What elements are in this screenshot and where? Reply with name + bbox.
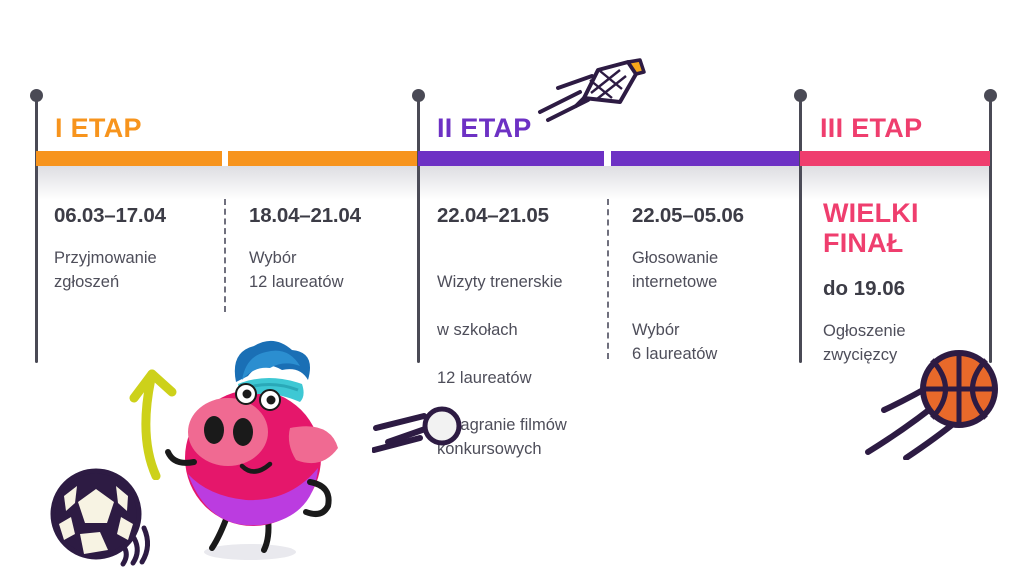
bar-shadow-3 [800,166,990,200]
period-description-line: w szkołach [437,319,612,343]
final-description: Ogłoszenie zwycięzcy [823,320,983,368]
plus-icon: + [437,416,447,434]
stage-bar-2-segment-2 [611,151,799,166]
period-description-plus-line: + nagranie filmów konkursowych [437,414,612,462]
bar-shadow-2 [418,166,799,200]
shuttlecock-icon [536,58,646,123]
plus-line-text: nagranie filmów konkursowych [437,416,567,458]
stage-bar-1-segment-1 [36,151,222,166]
soccer-ball-icon [48,462,160,574]
timeline-rule-4 [989,95,992,363]
stage-label-1: I ETAP [55,113,142,144]
stage-label-2: II ETAP [437,113,532,144]
stage-bar-1-segment-2 [228,151,417,166]
period-description-line: Wizyty trenerskie [437,271,612,295]
period-date-2-2: 22.05–05.06 [632,204,744,228]
period-date-1-2: 18.04–21.04 [249,204,361,228]
period-description-2-2: Głosowanie internetowe Wybór 6 laureatów [632,247,792,367]
timeline-rule-2 [417,95,420,363]
period-date-2-1: 22.04–21.05 [437,204,549,228]
stage-bar-3 [800,151,990,166]
period-description-2-1: Wizyty trenerskie w szkołach 12 laureató… [437,247,612,486]
final-title: WIELKI FINAŁ [823,198,919,258]
final-date: do 19.06 [823,277,905,301]
period-description-1-2: Wybór 12 laureatów [249,247,409,295]
timeline-infographic: I ETAP II ETAP III ETAP 06.03–17.04 Przy… [0,0,1024,576]
bar-shadow-1 [36,166,418,200]
stage-bar-2-segment-1 [418,151,604,166]
period-date-1-1: 06.03–17.04 [54,204,166,228]
period-description-line: 12 laureatów [437,367,612,391]
timeline-rule-3 [799,95,802,363]
timeline-rule-1 [35,95,38,363]
up-arrow-icon [128,340,188,480]
period-description-1-1: Przyjmowanie zgłoszeń [54,247,214,295]
stage-label-3: III ETAP [820,113,922,144]
period-separator-1 [224,199,226,312]
mascot-pig-illustration [150,336,350,566]
